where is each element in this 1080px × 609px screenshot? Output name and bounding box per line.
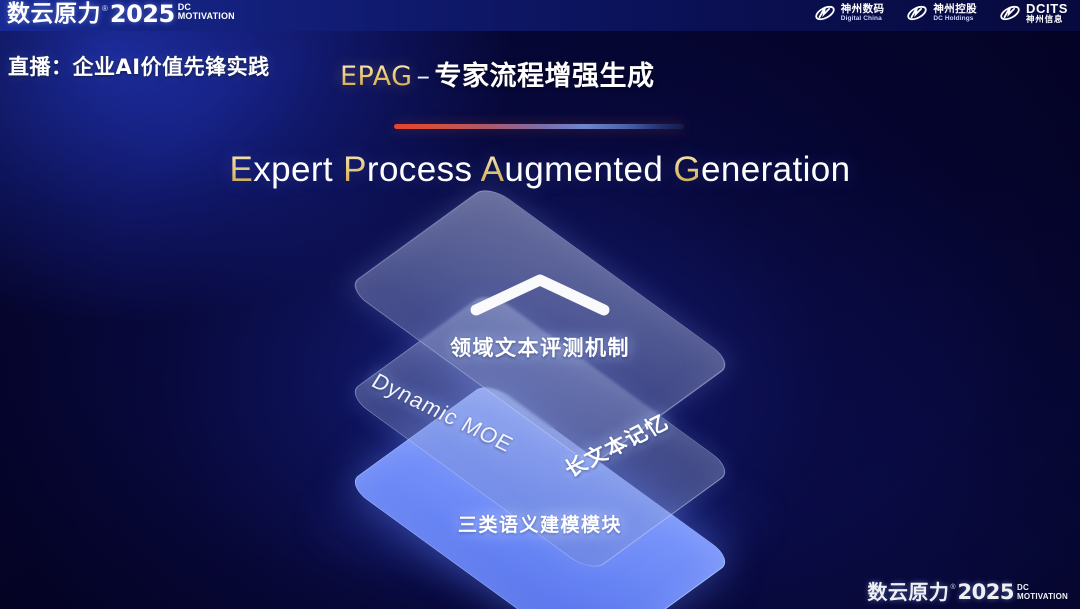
title-chinese: 专家流程增强生成 xyxy=(435,61,655,92)
chevron-up-icon xyxy=(464,268,616,320)
partner-name-cn: 神州控股 xyxy=(933,4,977,15)
gradient-divider xyxy=(394,124,684,129)
brand-logo: 数云原力 ® 2025 DC MOTIVATION xyxy=(7,1,235,27)
watermark-year: 2025 xyxy=(958,581,1014,603)
brand-subtitle: DC MOTIVATION xyxy=(178,3,235,21)
partner-name-cn: 神州信息 xyxy=(1026,16,1068,25)
registered-mark-icon: ® xyxy=(102,3,108,14)
partner-text: DCITS 神州信息 xyxy=(1026,2,1068,25)
subtitle-word-expert: Expert xyxy=(229,150,333,189)
subtitle-expansion: Expert Process Augmented Generation xyxy=(0,150,1080,190)
subtitle-cap: E xyxy=(229,150,253,189)
partner-name-cn: 神州数码 xyxy=(841,4,885,15)
swirl-logo-icon xyxy=(814,2,836,24)
page-title: EPAG–专家流程增强生成 xyxy=(340,54,655,93)
swirl-logo-icon xyxy=(999,2,1021,24)
subtitle-word-augmented: Augmented xyxy=(481,150,664,189)
title-dash: – xyxy=(417,61,431,92)
subtitle-rest: ugmented xyxy=(504,150,663,189)
watermark-subtitle: DC MOTIVATION xyxy=(1017,583,1068,601)
subtitle-cap: G xyxy=(673,150,701,189)
partner-logo-group: 神州数码 Digital China 神州控股 DC Holdings DCIT… xyxy=(814,2,1068,25)
subtitle-rest: xpert xyxy=(253,150,333,189)
subtitle-rest: rocess xyxy=(367,150,473,189)
layer-label-bottom: 三类语义建模模块 xyxy=(0,510,1080,537)
brand-year: 2025 xyxy=(110,1,175,27)
subtitle-word-generation: Generation xyxy=(673,150,850,189)
subtitle-cap: A xyxy=(481,150,505,189)
subtitle-cap: P xyxy=(343,150,367,189)
live-stream-label: 直播：企业AI价值先锋实践 xyxy=(8,51,270,81)
swirl-logo-icon xyxy=(906,2,928,24)
layer-plate-top xyxy=(346,184,734,466)
brand-name-cn: 数云原力 xyxy=(7,1,101,27)
watermark-sub-line2: MOTIVATION xyxy=(1017,592,1068,601)
layer-label-top: 领域文本评测机制 xyxy=(0,332,1080,362)
subtitle-rest: eneration xyxy=(701,150,851,189)
partner-text: 神州控股 DC Holdings xyxy=(933,4,977,23)
watermark-registered-icon: ® xyxy=(950,583,955,592)
watermark-sub-line1: DC xyxy=(1017,583,1068,592)
watermark-logo: 数云原力 ® 2025 DC MOTIVATION xyxy=(867,581,1068,603)
brand-sub-line2: MOTIVATION xyxy=(178,12,235,21)
subtitle-word-process: Process xyxy=(343,150,472,189)
partner-name-en: DCITS xyxy=(1026,2,1068,15)
watermark-name-cn: 数云原力 xyxy=(867,581,949,603)
partner-logo-digital-china: 神州数码 Digital China xyxy=(814,2,885,24)
partner-name-en: DC Holdings xyxy=(933,16,977,23)
slide-canvas: 数云原力 ® 2025 DC MOTIVATION 神州数码 Digital C… xyxy=(0,0,1080,609)
partner-logo-dc-holdings: 神州控股 DC Holdings xyxy=(906,2,977,24)
partner-text: 神州数码 Digital China xyxy=(841,4,885,23)
partner-name-en: Digital China xyxy=(841,16,885,23)
title-acronym: EPAG xyxy=(340,61,413,92)
partner-logo-dcits: DCITS 神州信息 xyxy=(999,2,1068,25)
